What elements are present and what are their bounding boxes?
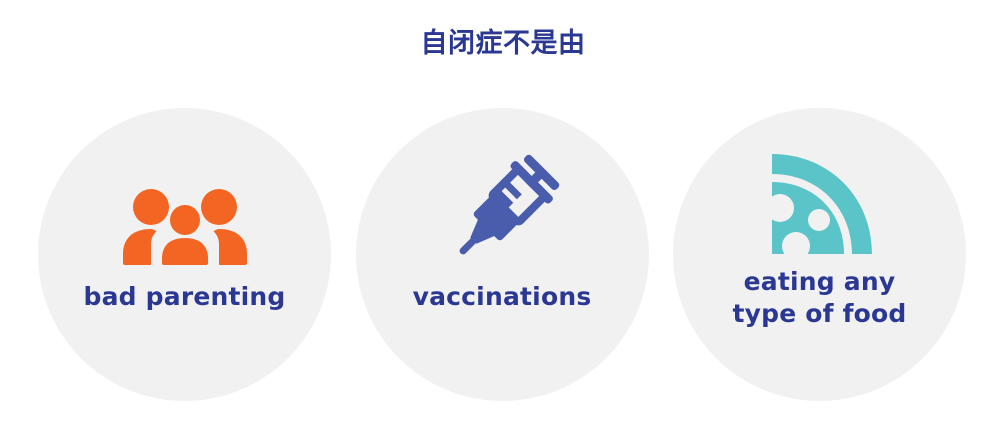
page-title: 自闭症不是由 <box>0 28 1006 60</box>
card-label-vaccinations: vaccinations <box>356 281 649 313</box>
family-group-icon <box>38 170 331 280</box>
card-label-bad-parenting: bad parenting <box>38 281 331 313</box>
pizza-slice-icon <box>673 136 966 276</box>
infographic-root: 自闭症不是由 <box>0 0 1006 448</box>
cards-row: bad parenting <box>38 108 966 406</box>
card-label-eating-any-food: eating any type of food <box>673 266 966 329</box>
card-vaccinations: vaccinations <box>356 108 649 401</box>
card-bad-parenting: bad parenting <box>38 108 331 401</box>
card-label-line-1: eating any <box>673 266 966 298</box>
card-eating-any-food: eating any type of food <box>673 108 966 401</box>
card-label-line-2: type of food <box>673 298 966 330</box>
syringe-icon <box>356 142 649 282</box>
